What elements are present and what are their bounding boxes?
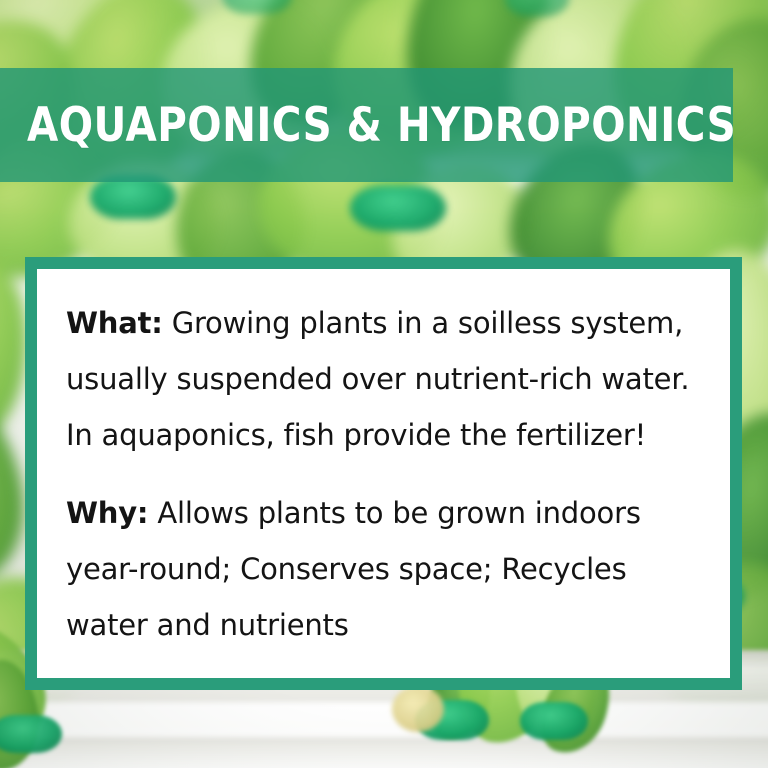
poster: AQUAPONICS & HYDROPONICS What: Growing p… <box>0 0 768 768</box>
what-paragraph: What: Growing plants in a soilless syste… <box>66 295 704 463</box>
why-text: Allows plants to be grown indoors year-r… <box>66 496 641 642</box>
content-card-body: What: Growing plants in a soilless syste… <box>37 269 730 653</box>
content-card: What: Growing plants in a soilless syste… <box>25 257 742 690</box>
what-label: What: <box>66 306 163 340</box>
page-title: AQUAPONICS & HYDROPONICS <box>27 102 736 149</box>
why-paragraph: Why: Allows plants to be grown indoors y… <box>66 485 704 653</box>
why-label: Why: <box>66 496 148 530</box>
title-banner: AQUAPONICS & HYDROPONICS <box>0 68 733 182</box>
